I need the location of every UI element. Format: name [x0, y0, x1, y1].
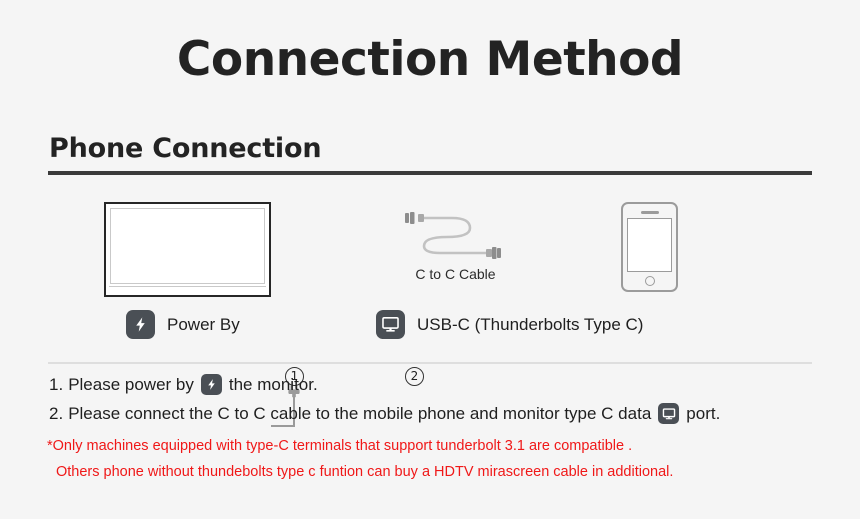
note-line-1: *Only machines equipped with type-C term…: [47, 438, 837, 454]
phone-home-button: [645, 276, 655, 286]
step-number-1: 1.: [49, 375, 63, 395]
diagram-area: 1 2 C to C Cable: [0, 180, 860, 300]
legend-row: Power By USB-C (Thunderbolts Type C): [0, 310, 860, 350]
phone-speaker: [641, 211, 659, 214]
monitor-screen: [110, 208, 265, 284]
step-text-2-after: port.: [686, 404, 720, 424]
monitor-display-icon: [376, 310, 405, 339]
note-line-2: Others phone without thundebolts type c …: [47, 464, 837, 480]
section-divider-thick: [48, 171, 812, 175]
connection-method-page: Connection Method Phone Connection 1 2: [0, 0, 860, 519]
lightning-bolt-icon: [201, 374, 222, 395]
legend-label-usbc: USB-C (Thunderbolts Type C): [417, 315, 643, 335]
page-title: Connection Method: [0, 32, 860, 87]
phone-illustration: [621, 202, 678, 292]
usb-c-cable-icon: [398, 208, 508, 260]
cable-caption: C to C Cable: [398, 266, 513, 282]
legend-item-power: Power By: [126, 310, 240, 339]
legend-item-usbc: USB-C (Thunderbolts Type C): [376, 310, 643, 339]
step-text-1-after: the monitor.: [229, 375, 318, 395]
steps-list: 1. Please power by the monitor. 2. Pleas…: [49, 374, 829, 432]
legend-label-power: Power By: [167, 315, 240, 335]
lightning-bolt-icon: [126, 310, 155, 339]
monitor-display-icon: [658, 403, 679, 424]
step-text-1-before: Please power by: [68, 375, 194, 395]
step-item-1: 1. Please power by the monitor.: [49, 374, 829, 395]
monitor-base: [109, 286, 266, 293]
steps-divider-thin: [48, 362, 812, 364]
step-item-2: 2. Please connect the C to C cable to th…: [49, 403, 829, 424]
step-number-2: 2.: [49, 404, 63, 424]
monitor-illustration: [104, 202, 271, 297]
phone-screen: [627, 218, 672, 272]
step-text-2-before: Please connect the C to C cable to the m…: [68, 404, 651, 424]
section-heading: Phone Connection: [49, 133, 321, 164]
compatibility-notes: *Only machines equipped with type-C term…: [47, 438, 837, 490]
